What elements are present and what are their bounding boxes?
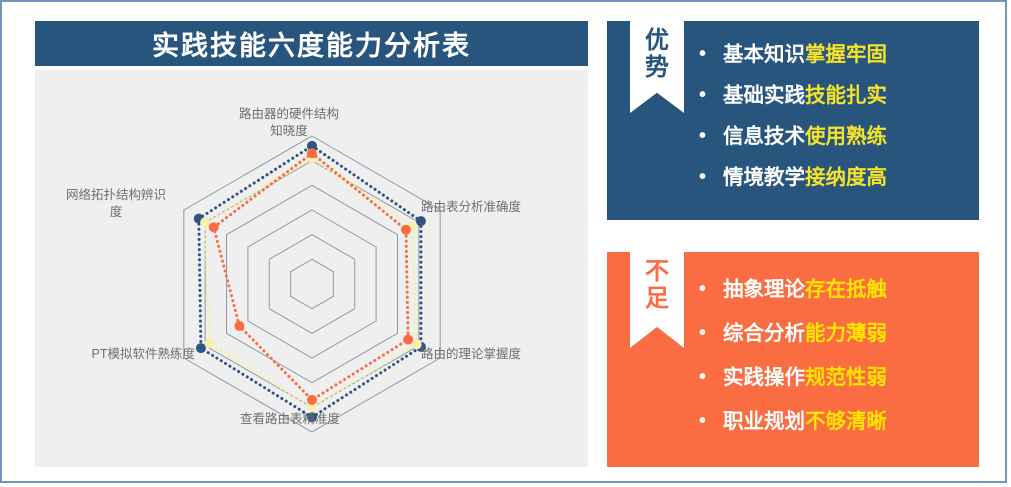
- bullet-text-plain: 抽象理论: [723, 278, 805, 301]
- bullet-text-plain: 信息技术: [723, 125, 805, 148]
- radar-data-point: [403, 335, 413, 345]
- radar-grid-ring: [227, 185, 398, 382]
- bullet-text-plain: 综合分析: [723, 322, 805, 345]
- slide-frame: 实践技能六度能力分析表 路由器的硬件结构 知晓度 路由表分析准确度 路由的理论掌…: [0, 0, 1007, 483]
- radar-data-point: [200, 217, 210, 227]
- disadvantages-list: 抽象理论存在抵触综合分析能力薄弱实践操作规范性弱职业规划不够清晰: [697, 278, 969, 454]
- radar-data-point: [234, 321, 244, 331]
- bullet-text-highlight: 能力薄弱: [805, 322, 887, 345]
- bullet-text-highlight: 规范性弱: [805, 366, 887, 389]
- radar-grid-ring: [184, 136, 440, 432]
- axis-label-topology-recognition: 网络拓扑结构辨识 度: [41, 187, 191, 221]
- radar-grid-rings: [184, 136, 440, 432]
- radar-grid-ring: [269, 235, 354, 334]
- bullet-text-plain: 实践操作: [723, 366, 805, 389]
- axis-label-view-routing-table: 查看路由表精准度: [210, 411, 370, 428]
- disadvantages-card: 不 足 抽象理论存在抵触综合分析能力薄弱实践操作规范性弱职业规划不够清晰: [607, 252, 979, 467]
- radar-data-point: [401, 225, 411, 235]
- disadvantages-badge-char-2: 足: [630, 285, 684, 312]
- bullet-text-plain: 基础实践: [723, 84, 805, 107]
- axis-label-routing-table-analysis: 路由表分析准确度: [421, 199, 571, 216]
- advantages-badge-char-2: 势: [630, 54, 684, 81]
- disadvantages-badge-char-1: 不: [630, 258, 684, 285]
- advantages-list: 基本知识掌握牢固基础实践技能扎实信息技术使用熟练情境教学接纳度高: [697, 43, 969, 207]
- bullet-text-highlight: 使用熟练: [805, 125, 887, 148]
- radar-data-point: [204, 338, 214, 348]
- list-item: 实践操作规范性弱: [697, 366, 969, 390]
- radar-grid-ring: [248, 210, 376, 358]
- list-item: 综合分析能力薄弱: [697, 322, 969, 346]
- list-item: 情境教学接纳度高: [697, 166, 969, 190]
- advantages-badge-char-1: 优: [630, 27, 684, 54]
- radar-series-layer: [194, 141, 426, 422]
- list-item: 职业规划不够清晰: [697, 410, 969, 434]
- bullet-text-highlight: 接纳度高: [805, 166, 887, 189]
- axis-label-routing-theory: 路由的理论掌握度: [421, 346, 571, 363]
- list-item: 抽象理论存在抵触: [697, 278, 969, 302]
- disadvantages-ribbon-badge: 不 足: [630, 252, 684, 348]
- list-item: 基本知识掌握牢固: [697, 43, 969, 67]
- list-item: 基础实践技能扎实: [697, 84, 969, 108]
- radar-data-point: [209, 222, 219, 232]
- bullet-text-plain: 职业规划: [723, 410, 805, 433]
- advantages-ribbon-badge: 优 势: [630, 21, 684, 113]
- radar-data-point: [196, 343, 206, 353]
- advantages-card: 优 势 基本知识掌握牢固基础实践技能扎实信息技术使用熟练情境教学接纳度高: [607, 21, 979, 220]
- bullet-text-highlight: 存在抵触: [805, 278, 887, 301]
- bullet-text-highlight: 技能扎实: [805, 84, 887, 107]
- bullet-text-plain: 情境教学: [723, 166, 805, 189]
- axis-label-hardware: 路由器的硬件结构 知晓度: [209, 106, 369, 140]
- radar-grid-ring: [291, 259, 334, 308]
- radar-data-point: [307, 395, 317, 405]
- bullet-text-highlight: 不够清晰: [805, 410, 887, 433]
- bullet-text-highlight: 掌握牢固: [805, 43, 887, 66]
- chart-title: 实践技能六度能力分析表: [35, 21, 588, 66]
- list-item: 信息技术使用熟练: [697, 125, 969, 149]
- chart-plot-area: 路由器的硬件结构 知晓度 路由表分析准确度 路由的理论掌握度 查看路由表精准度 …: [35, 70, 588, 467]
- axis-label-pt-simulator: PT模拟软件熟练度: [45, 346, 195, 363]
- bullet-text-plain: 基本知识: [723, 43, 805, 66]
- radar-data-point: [416, 216, 426, 226]
- radar-data-point: [307, 148, 317, 158]
- radar-chart-card: 实践技能六度能力分析表 路由器的硬件结构 知晓度 路由表分析准确度 路由的理论掌…: [35, 21, 588, 467]
